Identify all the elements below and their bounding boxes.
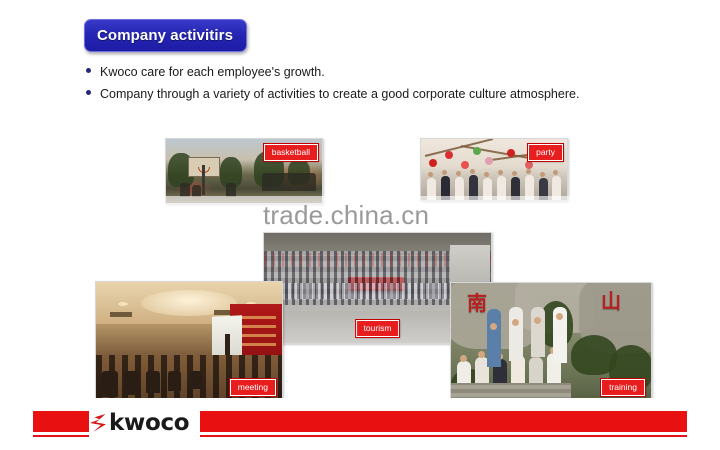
footer: kwoco (0, 398, 720, 450)
brand-name: kwoco (109, 410, 189, 436)
photo-tag-basketball: basketball (264, 144, 318, 161)
photo-training: 南 山 traini (450, 282, 652, 402)
photo-tag-tourism: tourism (356, 320, 400, 337)
brand-logo: kwoco (88, 409, 189, 437)
bullet-dot-icon (86, 68, 91, 73)
bullet-dot-icon (86, 90, 91, 95)
kwoco-arrow-icon (88, 412, 108, 434)
list-item: Kwoco care for each employee's growth. (86, 64, 686, 81)
photo-party: party (420, 138, 568, 201)
photo-basketball: basketball (165, 138, 323, 204)
bullet-text: Kwoco care for each employee's growth. (100, 64, 325, 81)
bullet-list: Kwoco care for each employee's growth. C… (86, 64, 686, 108)
footer-accent-bar-left (33, 411, 89, 432)
list-item: Company through a variety of activities … (86, 86, 686, 103)
photo-tag-training: training (601, 379, 645, 396)
footer-rule-left (33, 435, 89, 437)
page-title: Company activitirs (84, 19, 247, 52)
photo-meeting: meeting (95, 281, 283, 402)
slide-canvas: Company activitirs Kwoco care for each e… (0, 0, 720, 450)
footer-rule-right (200, 435, 687, 437)
watermark-text: trade.china.cn (263, 200, 429, 231)
bullet-text: Company through a variety of activities … (100, 86, 579, 103)
photo-tag-party: party (528, 144, 563, 161)
footer-accent-bar-right (200, 411, 687, 432)
photo-tag-meeting: meeting (230, 379, 276, 396)
